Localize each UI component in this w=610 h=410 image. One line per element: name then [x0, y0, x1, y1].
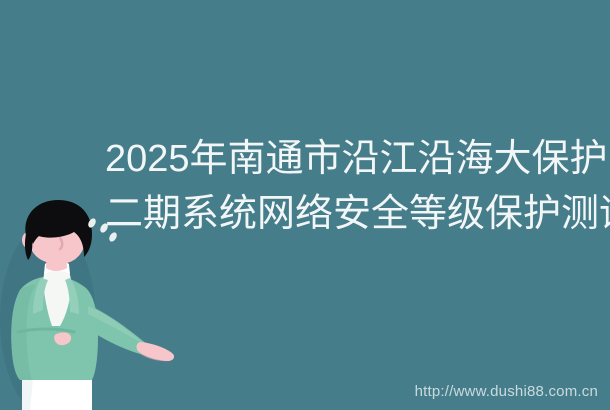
- page-title: 2025年南通市沿江沿海大保护 二期系统网络安全等级保护测评服: [105, 132, 610, 244]
- title-line-2: 二期系统网络安全等级保护测评服: [105, 187, 610, 242]
- title-line-1: 2025年南通市沿江沿海大保护: [105, 132, 610, 187]
- hand-shape: [137, 342, 175, 361]
- banner-image: 2025年南通市沿江沿海大保护 二期系统网络安全等级保护测评服 http://w…: [0, 0, 610, 410]
- watermark-url: http://www.dushi88.com.cn: [415, 383, 598, 400]
